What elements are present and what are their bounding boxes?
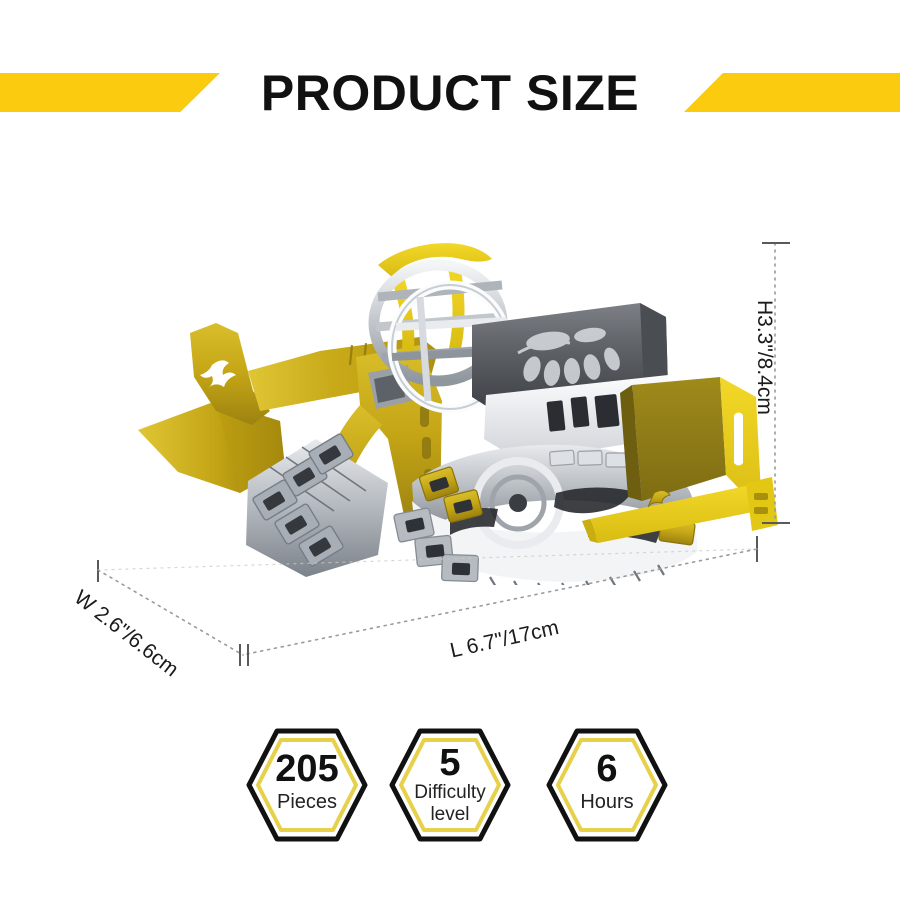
badge-hours-caption: Hours — [544, 791, 670, 814]
badge-pieces: 205 Pieces — [244, 727, 370, 843]
badge-hours-number: 6 — [544, 749, 670, 789]
badge-difficulty-caption-line1: Difficulty — [387, 782, 513, 804]
badge-difficulty-caption-line2: level — [387, 804, 513, 826]
badge-pieces-caption: Pieces — [244, 791, 370, 814]
badge-difficulty-number: 5 — [387, 743, 513, 783]
badge-pieces-number: 205 — [244, 749, 370, 789]
product-size-infographic: PRODUCT SIZE — [0, 0, 900, 900]
spec-badges: 205 Pieces 5 Difficulty level 6 Hours — [0, 722, 900, 847]
badge-hours: 6 Hours — [544, 727, 670, 843]
badge-difficulty: 5 Difficulty level — [387, 727, 513, 843]
box-top-edge-line — [98, 549, 757, 570]
height-dimension-label: H3.3"/8.4cm — [752, 300, 776, 415]
